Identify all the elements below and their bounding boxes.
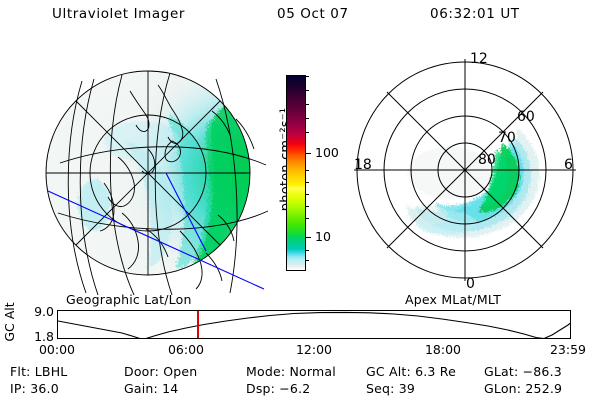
colorbar-minor-tick: [305, 260, 309, 261]
colorbar-minor-tick: [305, 76, 309, 77]
status-glon: GLon: 252.9: [484, 381, 562, 396]
status-ip: IP: 36.0: [10, 381, 59, 396]
header-bar: Ultraviolet Imager 05 Oct 07 06:32:01 UT: [0, 6, 600, 30]
mlat-ring-label-60: 60: [517, 109, 535, 125]
orbit-altitude-curve: [58, 311, 571, 339]
orbit-xtick-1: 06:00: [168, 342, 204, 357]
colorbar-minor-tick: [305, 250, 309, 251]
colorbar-minor-tick: [305, 118, 309, 119]
colorbar-group: photon cm⁻²s⁻¹ 100 10: [258, 60, 348, 290]
colorbar-minor-tick: [305, 194, 309, 195]
mlt-dial-svg: 12 6 0 18 60 70 80: [350, 45, 590, 295]
orbit-xtick-4: 23:59: [550, 342, 586, 357]
geographic-map-svg: [30, 45, 280, 295]
mlat-ring-label-80: 80: [478, 152, 496, 168]
orbit-xtick-2: 12:00: [296, 342, 332, 357]
colorbar-minor-tick: [305, 132, 309, 133]
orbit-xtick-0: 00:00: [39, 342, 75, 357]
time-cursor-marker: [197, 311, 199, 339]
colorbar-tick-label-10: 10: [315, 231, 331, 244]
mlt-label-0: 0: [466, 276, 475, 292]
status-glat: GLat: −86.3: [484, 364, 562, 379]
colorbar-minor-tick: [305, 104, 309, 105]
status-filter: Flt: LBHL: [10, 364, 67, 379]
mlt-label-6: 6: [564, 157, 573, 173]
colorbar-minor-tick: [305, 182, 309, 183]
colorbar-tick-10: [305, 237, 311, 238]
status-gain: Gain: 14: [124, 381, 178, 396]
status-row-1: Flt: LBHL Door: Open Mode: Normal GC Alt…: [0, 364, 600, 380]
colorbar-minor-tick: [305, 170, 309, 171]
colorbar-tick-100: [305, 153, 311, 154]
geographic-map-panel[interactable]: [30, 45, 280, 295]
instrument-title: Ultraviolet Imager: [52, 6, 185, 22]
observation-date: 05 Oct 07: [277, 6, 349, 22]
orbit-altitude-strip[interactable]: GC Alt 9.0 1.8 00:00 06:00 12:00 18:00 2…: [0, 300, 600, 360]
colorbar-minor-tick: [305, 218, 309, 219]
mlt-label-12: 12: [470, 51, 488, 67]
mlat-ring-label-70: 70: [498, 130, 516, 146]
orbit-xtick-3: 18:00: [425, 342, 461, 357]
status-dsp: Dsp: −6.2: [246, 381, 310, 396]
colorbar-minor-tick: [305, 90, 309, 91]
status-block: Flt: LBHL Door: Open Mode: Normal GC Alt…: [0, 364, 600, 400]
colorbar-tick-label-100: 100: [315, 147, 339, 160]
status-mode: Mode: Normal: [246, 364, 336, 379]
colorbar-gradient[interactable]: [286, 75, 306, 271]
status-seq: Seq: 39: [366, 381, 415, 396]
orbit-ytick-max: 9.0: [34, 306, 54, 319]
status-door: Door: Open: [124, 364, 197, 379]
aurora-oval-overlay: [406, 129, 540, 238]
observation-time: 06:32:01 UT: [430, 6, 520, 22]
orbit-plot-frame[interactable]: [57, 310, 571, 339]
mlt-label-18: 18: [354, 157, 372, 173]
mlt-dial-grid: [354, 59, 576, 281]
colorbar-minor-tick: [305, 206, 309, 207]
mlt-dial-panel[interactable]: 12 6 0 18 60 70 80: [350, 45, 590, 295]
status-row-2: IP: 36.0 Gain: 14 Dsp: −6.2 Seq: 39 GLon…: [0, 381, 600, 397]
status-gc-alt: GC Alt: 6.3 Re: [366, 364, 456, 379]
